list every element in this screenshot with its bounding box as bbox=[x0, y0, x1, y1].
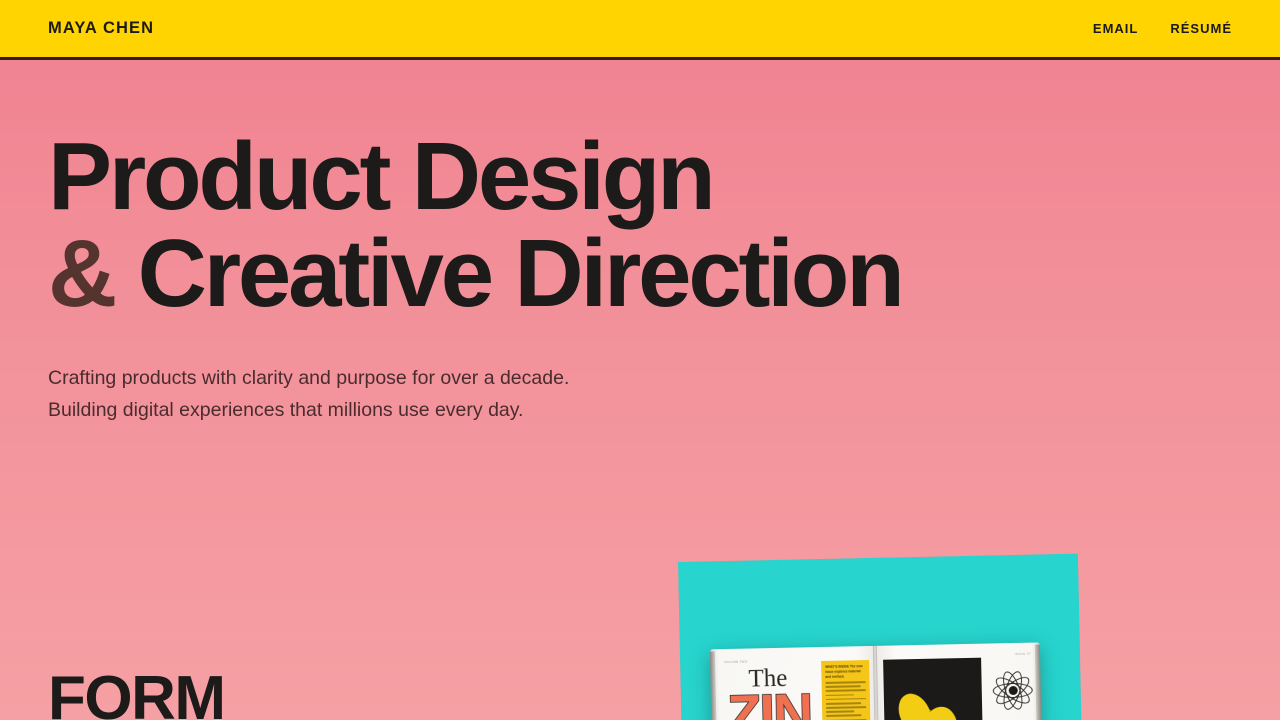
sidebar-rule bbox=[826, 681, 866, 683]
ampersand-glyph: & bbox=[48, 220, 114, 327]
headline-line-2-text: Creative Direction bbox=[114, 220, 902, 327]
subtitle-line-1: Crafting products with clarity and purpo… bbox=[48, 367, 569, 389]
nav-link-resume[interactable]: RÉSUMÉ bbox=[1170, 21, 1232, 36]
sidebar-rule bbox=[826, 706, 866, 708]
brand-logo[interactable]: MAYA CHEN bbox=[48, 19, 154, 38]
magazine-black-panel bbox=[883, 658, 984, 720]
feature-photo: VOLUME TWO The ZIN WHAT'S INSIDE The new… bbox=[678, 554, 1083, 720]
magazine-title-main: ZIN bbox=[727, 685, 812, 720]
sidebar-rule bbox=[826, 685, 861, 687]
magazine-page-right: ISSUE 07 Review notes bbox=[875, 642, 1043, 720]
sidebar-rule bbox=[826, 698, 866, 700]
sidebar-rule bbox=[826, 702, 861, 704]
magazine-sidebar-heading: WHAT'S INSIDE The new issue explores mat… bbox=[825, 664, 865, 679]
sidebar-rule bbox=[826, 711, 854, 713]
sidebar-rule bbox=[826, 689, 866, 691]
atom-illustration-icon bbox=[991, 669, 1034, 712]
magazine-page-left: VOLUME TWO The ZIN WHAT'S INSIDE The new… bbox=[710, 646, 878, 720]
sidebar-rule bbox=[826, 694, 854, 696]
section-heading-form: FORM bbox=[48, 668, 225, 720]
page-title: Product Design & Creative Direction bbox=[48, 130, 1280, 321]
magazine-masthead: VOLUME TWO bbox=[724, 659, 754, 664]
magazine-sidebar: WHAT'S INSIDE The new issue explores mat… bbox=[821, 660, 872, 720]
magazine-page-number: ISSUE 07 bbox=[1015, 652, 1031, 656]
main-navigation: EMAIL RÉSUMÉ bbox=[1093, 21, 1232, 36]
subtitle-line-2: Building digital experiences that millio… bbox=[48, 399, 523, 421]
magazine-spread: VOLUME TWO The ZIN WHAT'S INSIDE The new… bbox=[710, 642, 1043, 720]
hero-subtitle: Crafting products with clarity and purpo… bbox=[48, 363, 1280, 426]
headline-line-2: & Creative Direction bbox=[48, 227, 1280, 321]
hero-section: Product Design & Creative Direction Craf… bbox=[0, 60, 1280, 426]
nav-link-email[interactable]: EMAIL bbox=[1093, 21, 1138, 36]
headline-line-1: Product Design bbox=[48, 123, 713, 230]
sidebar-rule bbox=[826, 715, 861, 717]
page-edge-left bbox=[710, 651, 718, 720]
site-header: MAYA CHEN EMAIL RÉSUMÉ bbox=[0, 0, 1280, 60]
